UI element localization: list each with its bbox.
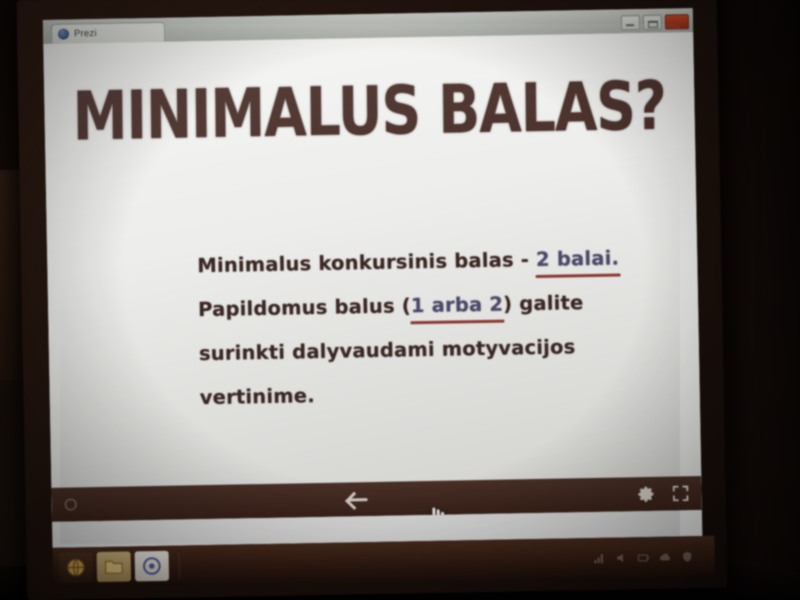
taskbar-divider	[179, 553, 180, 579]
system-tray	[593, 549, 709, 564]
browser-tab-prezi[interactable]: Prezi	[51, 22, 165, 44]
gear-icon[interactable]	[637, 485, 655, 503]
taskbar-item-app[interactable]	[135, 551, 170, 582]
photograph-of-laptop-screen: Prezi MINIMALUS BALAS? Minimalus konkurs…	[0, 0, 800, 600]
line1-text-normal: Minimalus konkursinis balas -	[197, 248, 536, 277]
close-button[interactable]	[665, 14, 689, 29]
tray-icon-shield[interactable]	[681, 550, 694, 563]
line2-text-before: Papildomus balus (	[198, 294, 411, 321]
tray-icon-network[interactable]	[593, 551, 606, 564]
slide-title: MINIMALUS BALAS?	[72, 73, 667, 151]
minimize-button[interactable]	[621, 15, 640, 30]
prezi-favicon	[58, 29, 69, 40]
taskbar-item-folder[interactable]	[97, 551, 132, 582]
laptop-screen: Prezi MINIMALUS BALAS? Minimalus konkurs…	[43, 8, 703, 548]
line2-text-after: ) galite	[503, 291, 584, 315]
folder-icon	[103, 556, 125, 578]
prezi-bar-right	[637, 484, 689, 503]
back-arrow-icon[interactable]	[343, 489, 371, 510]
slide-content: MINIMALUS BALAS? Minimalus konkursinis b…	[43, 32, 702, 522]
laptop: Prezi MINIMALUS BALAS? Minimalus konkurs…	[16, 0, 727, 600]
prezi-bar-center	[78, 484, 638, 514]
slide-body-line-1: Minimalus konkursinis balas - 2 balai.	[197, 236, 670, 289]
tray-icon-sound[interactable]	[615, 551, 628, 564]
browser-tab-label: Prezi	[74, 28, 97, 39]
taskbar-spacer	[186, 558, 593, 565]
fullscreen-icon[interactable]	[671, 484, 689, 502]
window-controls	[621, 14, 689, 30]
prezi-logo-icon	[64, 497, 78, 511]
globe-icon	[65, 556, 87, 578]
tray-icon-cloud[interactable]	[659, 550, 672, 563]
tray-icon-battery[interactable]	[637, 550, 650, 563]
prezi-slide: MINIMALUS BALAS? Minimalus konkursinis b…	[43, 32, 702, 522]
line1-highlight: 2 balai.	[536, 246, 619, 271]
line2-highlight: 1 arba 2	[411, 293, 504, 318]
taskbar-item-browser[interactable]	[59, 552, 94, 583]
disc-icon	[141, 555, 163, 577]
slide-body: Minimalus konkursinis balas - 2 balai. P…	[197, 236, 672, 421]
maximize-button[interactable]	[643, 15, 662, 30]
slide-body-line-4: vertinime.	[199, 368, 672, 421]
